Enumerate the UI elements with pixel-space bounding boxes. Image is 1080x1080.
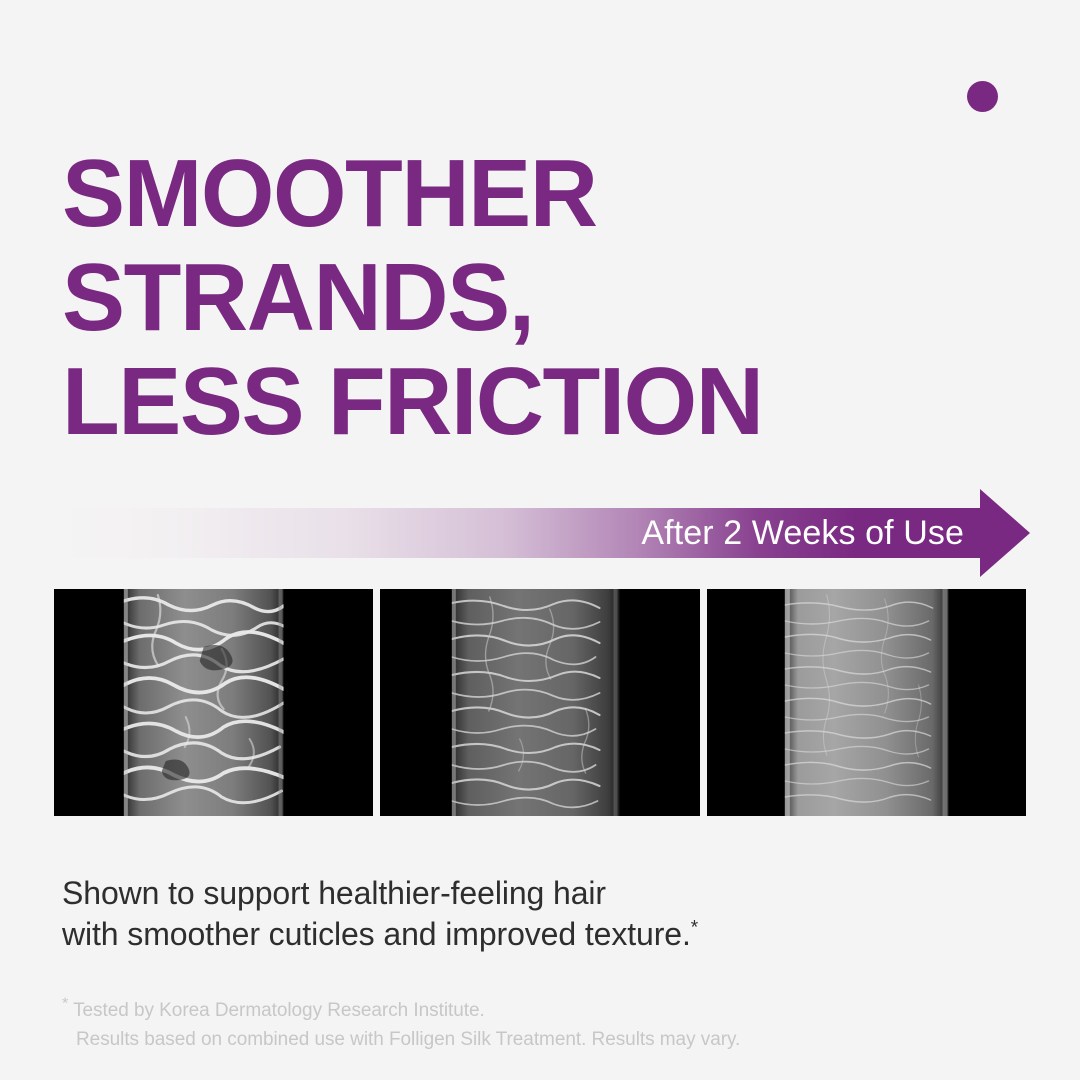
sem-panel-after — [707, 589, 1026, 816]
body-copy-line-1: Shown to support healthier-feeling hair — [62, 873, 962, 914]
footnote-line-1-text: Tested by Korea Dermatology Research Ins… — [73, 1000, 485, 1021]
headline-line-3: LESS FRICTION — [62, 350, 1008, 454]
timeline-arrow-banner: After 2 Weeks of Use — [54, 489, 1030, 577]
timeline-arrow-label: After 2 Weeks of Use — [641, 489, 964, 577]
sem-hair-strand-medium-image — [380, 589, 699, 816]
footnote-marker: * — [691, 917, 698, 938]
headline-line-1: SMOOTHER — [62, 142, 1008, 246]
sem-hair-strand-rough-image — [54, 589, 373, 816]
footnote-star: * — [62, 996, 68, 1013]
body-copy-line-2-text: with smoother cuticles and improved text… — [62, 916, 691, 952]
body-copy-line-2: with smoother cuticles and improved text… — [62, 914, 962, 955]
headline-line-2: STRANDS, — [62, 246, 1008, 350]
sem-hair-strand-smooth-image — [707, 589, 1026, 816]
body-copy: Shown to support healthier-feeling hair … — [62, 873, 962, 955]
footnote-line-1: * Tested by Korea Dermatology Research I… — [62, 996, 1002, 1025]
sem-comparison-strip — [54, 589, 1026, 816]
footnote-line-2: Results based on combined use with Folli… — [62, 1025, 1002, 1054]
ad-canvas: SMOOTHER STRANDS, LESS FRICTION After 2 … — [0, 0, 1080, 1080]
sem-panel-midpoint — [380, 589, 699, 816]
decorative-dot — [967, 81, 998, 112]
page-title: SMOOTHER STRANDS, LESS FRICTION — [62, 142, 1008, 454]
footnote-disclaimer: * Tested by Korea Dermatology Research I… — [62, 996, 1002, 1054]
sem-panel-before — [54, 589, 373, 816]
